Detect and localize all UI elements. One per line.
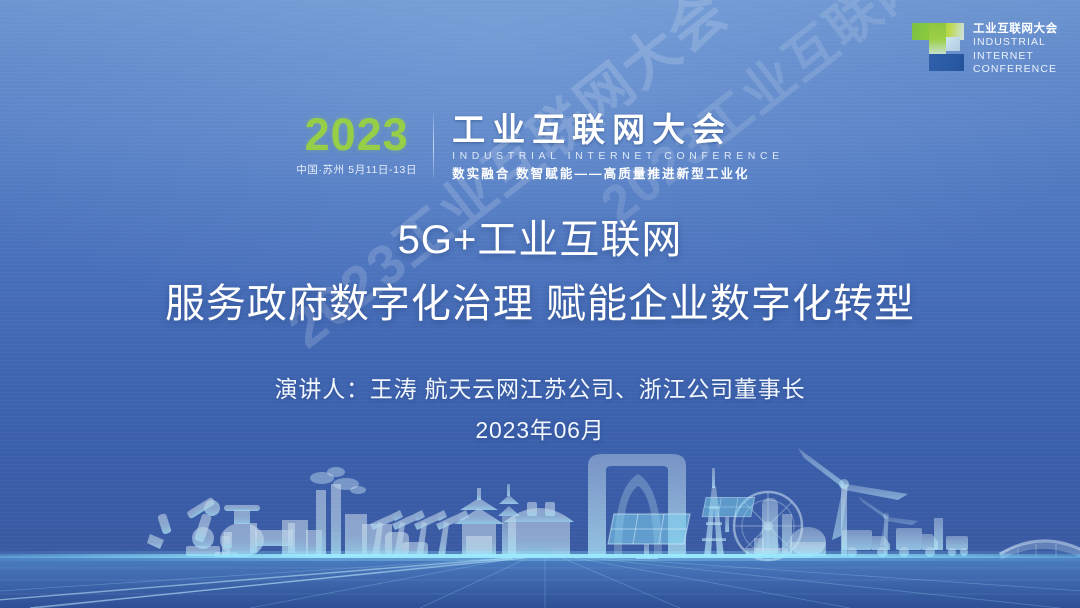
tower-pagoda-silhouette [498, 484, 520, 556]
radio-tower-silhouette [702, 468, 726, 556]
conference-logo-en-3: CONFERENCE [973, 63, 1058, 77]
conference-logo-cn: 工业互联网大会 [973, 22, 1058, 36]
event-name-en: INDUSTRIAL INTERNET CONFERENCE [452, 150, 784, 163]
horizon-glow-soft [0, 551, 1080, 561]
storage-tank-silhouette [746, 498, 826, 557]
solar-panel-silhouette [608, 497, 755, 559]
city-skyline-scene [0, 418, 1080, 608]
wind-turbine-silhouette [798, 448, 918, 556]
conference-logo-en-1: INDUSTRIAL [973, 36, 1058, 50]
perspective-grid [0, 557, 1080, 608]
event-header-year-block: 2023 中国·苏州 5月11日-13日 [296, 112, 433, 182]
oil-pumpjack-silhouette [370, 510, 469, 556]
warehouse-silhouette [504, 502, 574, 556]
event-name-cn: 工业互联网大会 [452, 112, 784, 148]
event-place-dates: 中国·苏州 5月11日-13日 [296, 164, 417, 176]
industrial-valve-silhouette [215, 505, 295, 557]
robotic-arm-silhouette [147, 497, 220, 556]
slide-meta: 演讲人：王涛 航天云网江苏公司、浙江公司董事长 2023年06月 [0, 372, 1080, 446]
perspective-highway [0, 558, 524, 608]
presentation-date: 2023年06月 [0, 414, 1080, 446]
pagoda-silhouette [454, 488, 504, 556]
ground-plane [0, 556, 1080, 608]
event-header: 2023 中国·苏州 5月11日-13日 工业互联网大会 INDUSTRIAL … [0, 112, 1080, 182]
horizon-glow-line [0, 554, 1080, 558]
ferris-wheel-silhouette [734, 492, 802, 560]
slide-title: 5G+工业互联网 服务政府数字化治理 赋能企业数字化转型 [0, 212, 1080, 332]
factory-silhouette [282, 484, 428, 556]
conference-logo-text: 工业互联网大会 INDUSTRIAL INTERNET CONFERENCE [973, 21, 1058, 77]
gate-of-the-orient-silhouette [588, 454, 686, 556]
perspective-grid-horizontals [0, 568, 1080, 594]
conference-logo-mark-icon [912, 21, 964, 73]
event-tagline: 数实融合 数智赋能——高质量推进新型工业化 [452, 166, 784, 182]
presentation-slide: 2023工业互联网大会 2023工业互联网大会 工业互联网大会 INDUSTRI… [0, 0, 1080, 608]
bridge-silhouette [1000, 541, 1080, 556]
title-line-1: 5G+工业互联网 [0, 212, 1080, 268]
event-header-name-block: 工业互联网大会 INDUSTRIAL INTERNET CONFERENCE 数… [434, 112, 784, 182]
presenter-line: 演讲人：王涛 航天云网江苏公司、浙江公司董事长 [0, 372, 1080, 406]
event-year: 2023 [305, 112, 409, 158]
conference-logo: 工业互联网大会 INDUSTRIAL INTERNET CONFERENCE [912, 21, 1058, 77]
smoke-silhouette [310, 467, 366, 494]
conference-logo-en-2: INTERNET [973, 50, 1058, 64]
title-line-2: 服务政府数字化治理 赋能企业数字化转型 [0, 276, 1080, 332]
truck-silhouette [842, 518, 968, 557]
skyline-svg [0, 418, 1080, 608]
